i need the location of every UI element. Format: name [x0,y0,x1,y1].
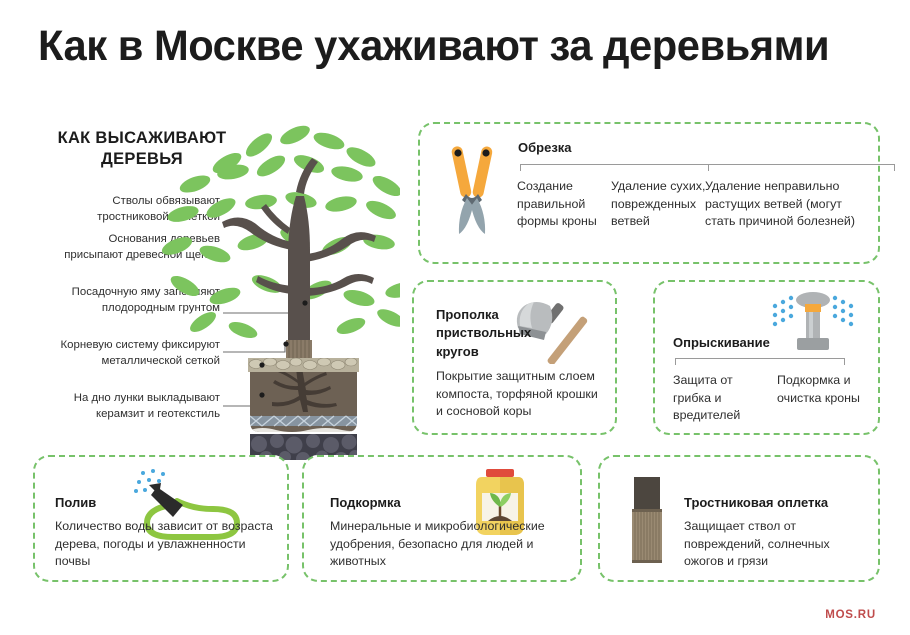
mos-ru-logo[interactable]: MOS.RU [825,609,876,621]
watering-title: Полив [55,495,96,510]
panel-spraying: Опрыскивание Защита от грибка и вредител… [653,280,880,435]
pruning-column-3: Удаление неправильно растущих ветвей (мо… [705,178,870,231]
weeding-title: Прополка приствольных кругов [436,306,536,361]
tree-planting-illustration [0,100,400,460]
spraying-column-2: Подкормка и очистка кроны [777,372,869,407]
pruning-bracket [520,164,895,172]
reed-wrap-icon [626,475,676,569]
pruning-shears-icon [442,142,502,238]
watering-body: Количество воды зависит от возраста дере… [55,518,277,571]
sprinkler-icon [765,288,861,358]
panel-weeding: Прополка приствольных кругов Покрытие за… [412,280,617,435]
bracket-tick [520,164,521,171]
bracket-tick [708,164,709,171]
page-title: Как в Москве ухаживают за деревьями [38,22,853,71]
pruning-column-1: Создание правильной формы кроны [517,178,601,231]
fertilizing-body: Минеральные и микробиологические удобрен… [330,518,570,571]
reed-wrap-title: Тростниковая оплетка [684,495,828,510]
bracket-bar [675,358,845,359]
panel-fertilizing: Подкормка Минеральные и микробиологическ… [302,455,582,582]
panel-pruning: Обрезка Создание правильной формы кроны … [418,122,880,264]
bracket-tick [675,358,676,365]
weeding-body: Покрытие защитным слоем компоста, торфян… [436,368,608,421]
reed-wrap-body: Защищает ствол от повреждений, солнечных… [684,518,866,571]
fertilizing-title: Подкормка [330,495,401,510]
spraying-bracket [675,358,845,366]
pruning-title: Обрезка [518,140,572,155]
spraying-title: Опрыскивание [673,335,770,350]
pruning-column-2: Удаление сухих, поврежденных ветвей [611,178,709,231]
spraying-column-1: Защита от грибка и вредителей [673,372,769,425]
bracket-tick [894,164,895,171]
panel-reed-wrap: Тростниковая оплетка Защищает ствол от п… [598,455,880,582]
panel-watering: Полив Количество воды зависит от возраст… [33,455,289,582]
bracket-tick [844,358,845,365]
